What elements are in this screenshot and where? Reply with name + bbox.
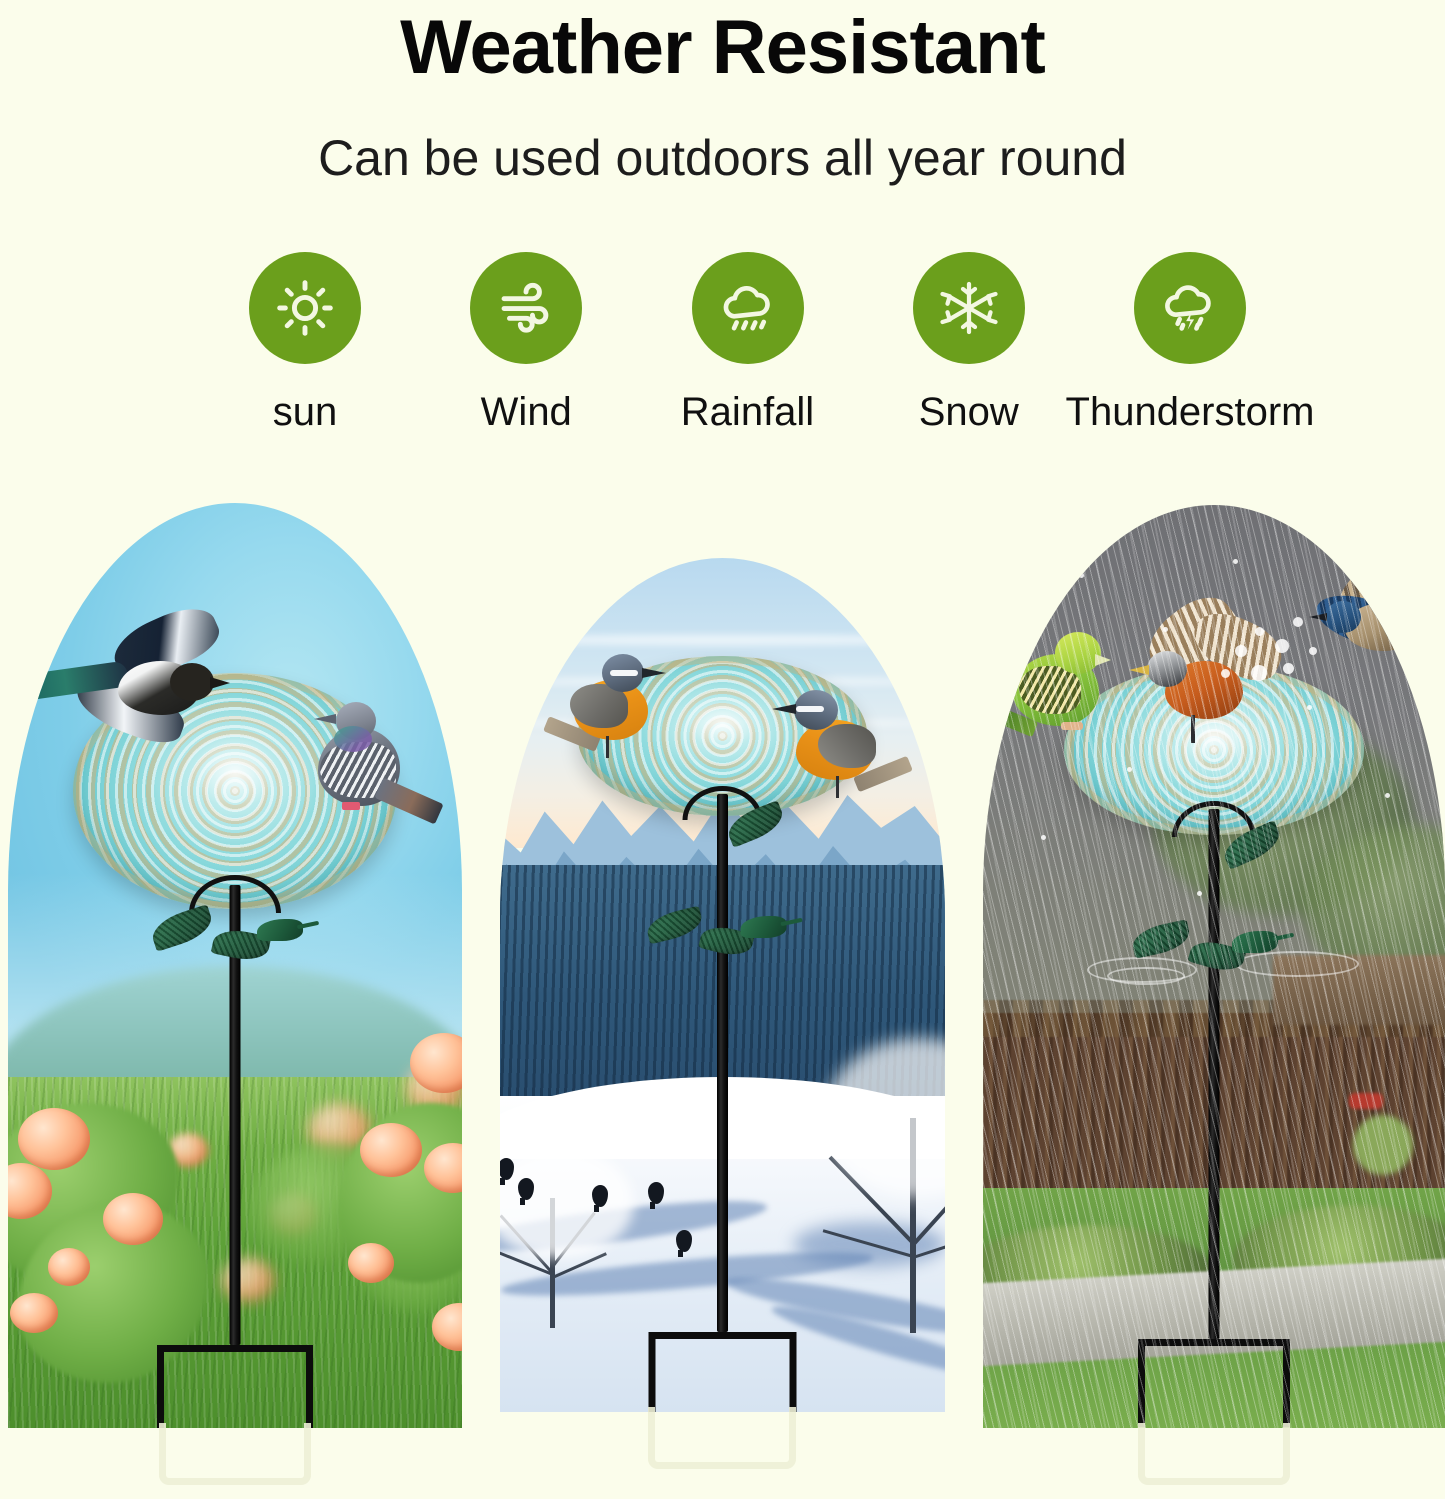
- rain-droplet: [1307, 705, 1312, 710]
- snowflake-icon: [939, 278, 999, 338]
- water-splash-droplet: [1255, 627, 1264, 636]
- feature-label-snow: Snow: [919, 390, 1019, 435]
- bird-beak: [642, 668, 666, 678]
- bird-legs: [606, 736, 609, 758]
- bird-flying-splash: [1303, 561, 1445, 691]
- rain-droplet: [1233, 559, 1238, 564]
- cloud-lightning-rain-icon: [1159, 277, 1221, 339]
- bird-magpie: [40, 625, 230, 755]
- photo-panel-rainy-backyard: [983, 505, 1445, 1428]
- stake-pole: [1209, 809, 1220, 1339]
- metal-hummingbird: [1232, 931, 1278, 953]
- magpie-head: [170, 663, 214, 701]
- bird-eye-stripe: [610, 670, 638, 676]
- rain-droplet: [1127, 767, 1132, 772]
- ground-stake-cross: [157, 1345, 313, 1352]
- feature-thunderstorm: Thunderstorm: [1090, 252, 1290, 435]
- water-splash-droplet: [1221, 669, 1230, 678]
- bird-beak: [772, 704, 796, 714]
- magpie-beak: [210, 677, 230, 689]
- foreground-rose: [360, 1123, 422, 1177]
- rain-droplet: [1197, 891, 1202, 896]
- ground-stake-fork: [157, 1345, 313, 1428]
- scene-rainy-backyard: [983, 505, 1445, 1428]
- budgie-feet: [1061, 722, 1083, 730]
- water-ripple: [1107, 967, 1185, 985]
- potted-plant: [1353, 1115, 1413, 1175]
- rain-droplet: [1041, 835, 1046, 840]
- weather-feature-row: sun Wind: [205, 252, 1290, 435]
- bird-pigeon: [308, 698, 448, 848]
- flying-bird-tail: [1402, 627, 1445, 658]
- pigeon-tail: [374, 778, 443, 825]
- rain-droplet: [1385, 793, 1390, 798]
- photo-panel-snowy-mountains: [500, 558, 945, 1412]
- feature-snow: Snow: [869, 252, 1069, 435]
- frosted-tree: [500, 1138, 650, 1328]
- pigeon-neck-sheen: [334, 726, 372, 752]
- budgie-head: [1055, 632, 1101, 674]
- flying-bird-beak: [1309, 613, 1327, 621]
- cloud-streak: [500, 635, 945, 645]
- rain-droplet: [1079, 573, 1084, 578]
- feature-label-sun: sun: [273, 390, 338, 435]
- robin-legs: [1191, 715, 1195, 743]
- bird-redstart-left: [548, 650, 688, 770]
- robin-beak: [1129, 665, 1149, 675]
- foreground-rose: [348, 1243, 394, 1283]
- foreground-rose: [18, 1108, 90, 1170]
- stake-pole: [717, 794, 728, 1332]
- ground-stake-cross: [1138, 1339, 1290, 1346]
- promo-page: Weather Resistant Can be used outdoors a…: [0, 0, 1445, 1499]
- foreground-rose: [48, 1248, 90, 1286]
- stake-outline-below-panel-2: [648, 1407, 796, 1469]
- cloud-rain-icon: [717, 277, 779, 339]
- pigeon-beak: [314, 714, 336, 724]
- tree-branch: [823, 1229, 912, 1257]
- bird-robin-bathing: [1125, 613, 1305, 763]
- feature-rainfall: Rainfall: [648, 252, 848, 435]
- rain-droplet: [1163, 627, 1168, 632]
- feature-badge-wind: [470, 252, 582, 364]
- water-splash-droplet: [1309, 647, 1317, 655]
- feature-sun: sun: [205, 252, 405, 435]
- metal-hummingbird: [741, 916, 787, 938]
- feature-badge-snow: [913, 252, 1025, 364]
- page-subtitle: Can be used outdoors all year round: [0, 128, 1445, 188]
- photo-panel-sunny-garden: [8, 503, 462, 1428]
- water-splash-droplet: [1251, 665, 1267, 681]
- budgie-beak: [1095, 654, 1111, 666]
- scene-sunny-garden: [8, 503, 462, 1428]
- water-splash-droplet: [1283, 663, 1294, 674]
- feature-badge-sun: [249, 252, 361, 364]
- feature-label-thunderstorm: Thunderstorm: [1066, 390, 1315, 435]
- stake-outline-below-panel-3: [1138, 1423, 1290, 1485]
- bird-legs: [836, 776, 839, 798]
- water-ripple: [1235, 951, 1359, 977]
- foreground-rose: [103, 1193, 163, 1245]
- sun-icon: [274, 277, 336, 339]
- stake-outline-below-panel-1: [159, 1423, 311, 1485]
- metal-hummingbird: [257, 919, 303, 941]
- bird-redstart-right: [766, 690, 916, 810]
- feature-badge-rainfall: [692, 252, 804, 364]
- feature-badge-thunderstorm: [1134, 252, 1246, 364]
- wind-icon: [495, 277, 557, 339]
- page-title: Weather Resistant: [0, 8, 1445, 88]
- tree-frost: [824, 1038, 945, 1198]
- water-splash-droplet: [1293, 617, 1303, 627]
- frosted-tree: [818, 1038, 945, 1338]
- water-splash-droplet: [1275, 639, 1289, 653]
- lifestyle-photo-row: [0, 495, 1445, 1499]
- ground-stake-fork: [649, 1332, 797, 1412]
- scene-snowy-mountains: [500, 558, 945, 1412]
- bird-eye-stripe: [796, 706, 824, 712]
- flying-bird-head: [1325, 601, 1361, 633]
- robin-head: [1147, 651, 1187, 687]
- ground-stake-cross: [649, 1332, 797, 1339]
- water-splash-droplet: [1235, 645, 1247, 657]
- pigeon-feet: [342, 802, 360, 810]
- foreground-rose: [10, 1293, 58, 1333]
- feature-label-rainfall: Rainfall: [681, 390, 814, 435]
- feature-label-wind: Wind: [481, 390, 572, 435]
- red-flower-basket: [1349, 1093, 1383, 1109]
- feature-wind: Wind: [426, 252, 626, 435]
- ground-stake-fork: [1138, 1339, 1290, 1427]
